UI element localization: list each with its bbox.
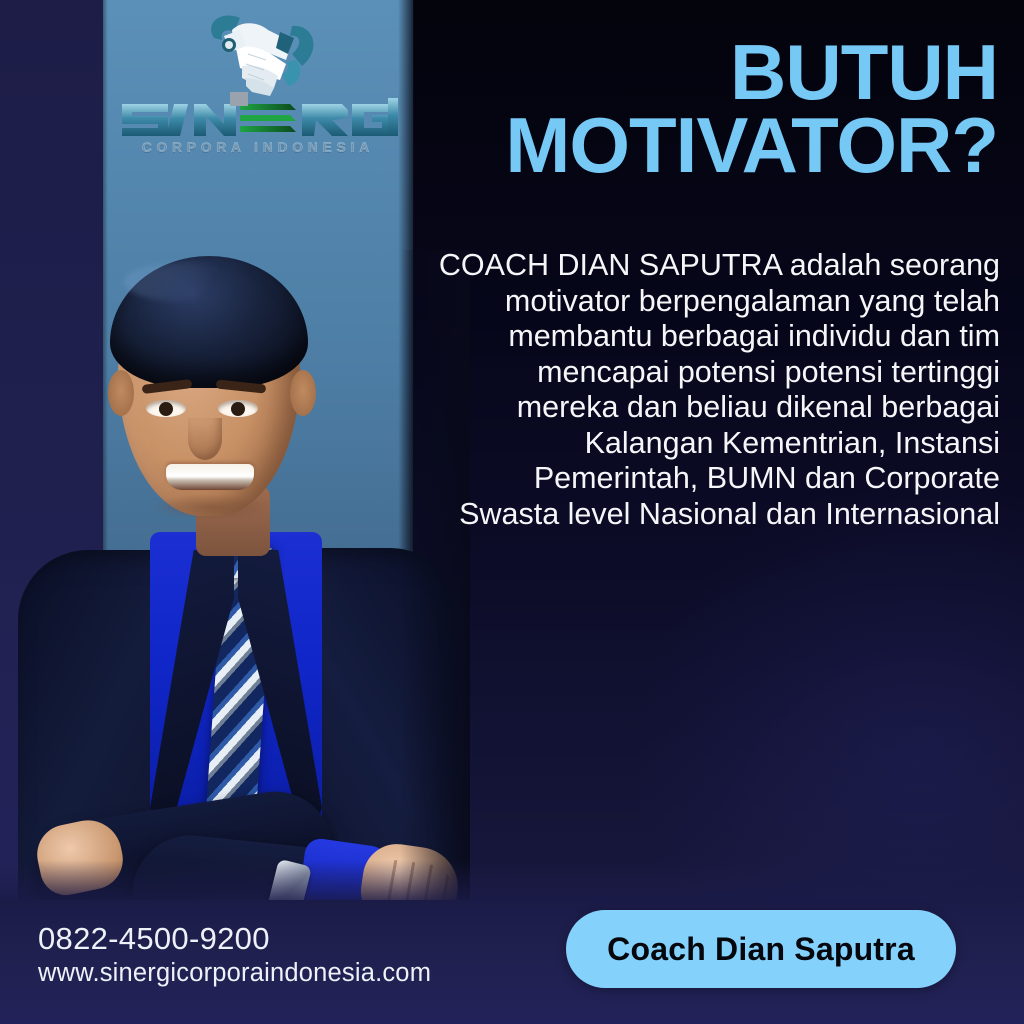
body-paragraph: COACH DIAN SAPUTRA adalah seorang motiva… [434, 248, 1000, 532]
brand-logo: CORPORA INDONESIA [118, 6, 398, 166]
hair [110, 256, 308, 388]
eye-right [218, 400, 258, 417]
logo-subtitle: CORPORA INDONESIA [118, 140, 398, 155]
smile [166, 464, 254, 490]
nose [188, 418, 222, 460]
cta-button-coach-dian-saputra[interactable]: Coach Dian Saputra [566, 910, 956, 988]
logo-wordmark [118, 84, 398, 142]
chin-shadow [150, 494, 270, 520]
phone-number[interactable]: 0822-4500-9200 [38, 922, 508, 956]
eye-left [146, 400, 186, 417]
poster-canvas: CORPORA INDONESIA BUTUH MOTIVATOR? [0, 0, 1024, 1024]
page-title: BUTUH MOTIVATOR? [438, 36, 998, 183]
contact-block: 0822-4500-9200 www.sinergicorporaindones… [38, 922, 508, 990]
headline-line-2: MOTIVATOR? [438, 109, 998, 182]
website-url[interactable]: www.sinergicorporaindonesia.com [38, 958, 508, 990]
ear-right [290, 370, 316, 416]
ear-left [108, 370, 134, 416]
